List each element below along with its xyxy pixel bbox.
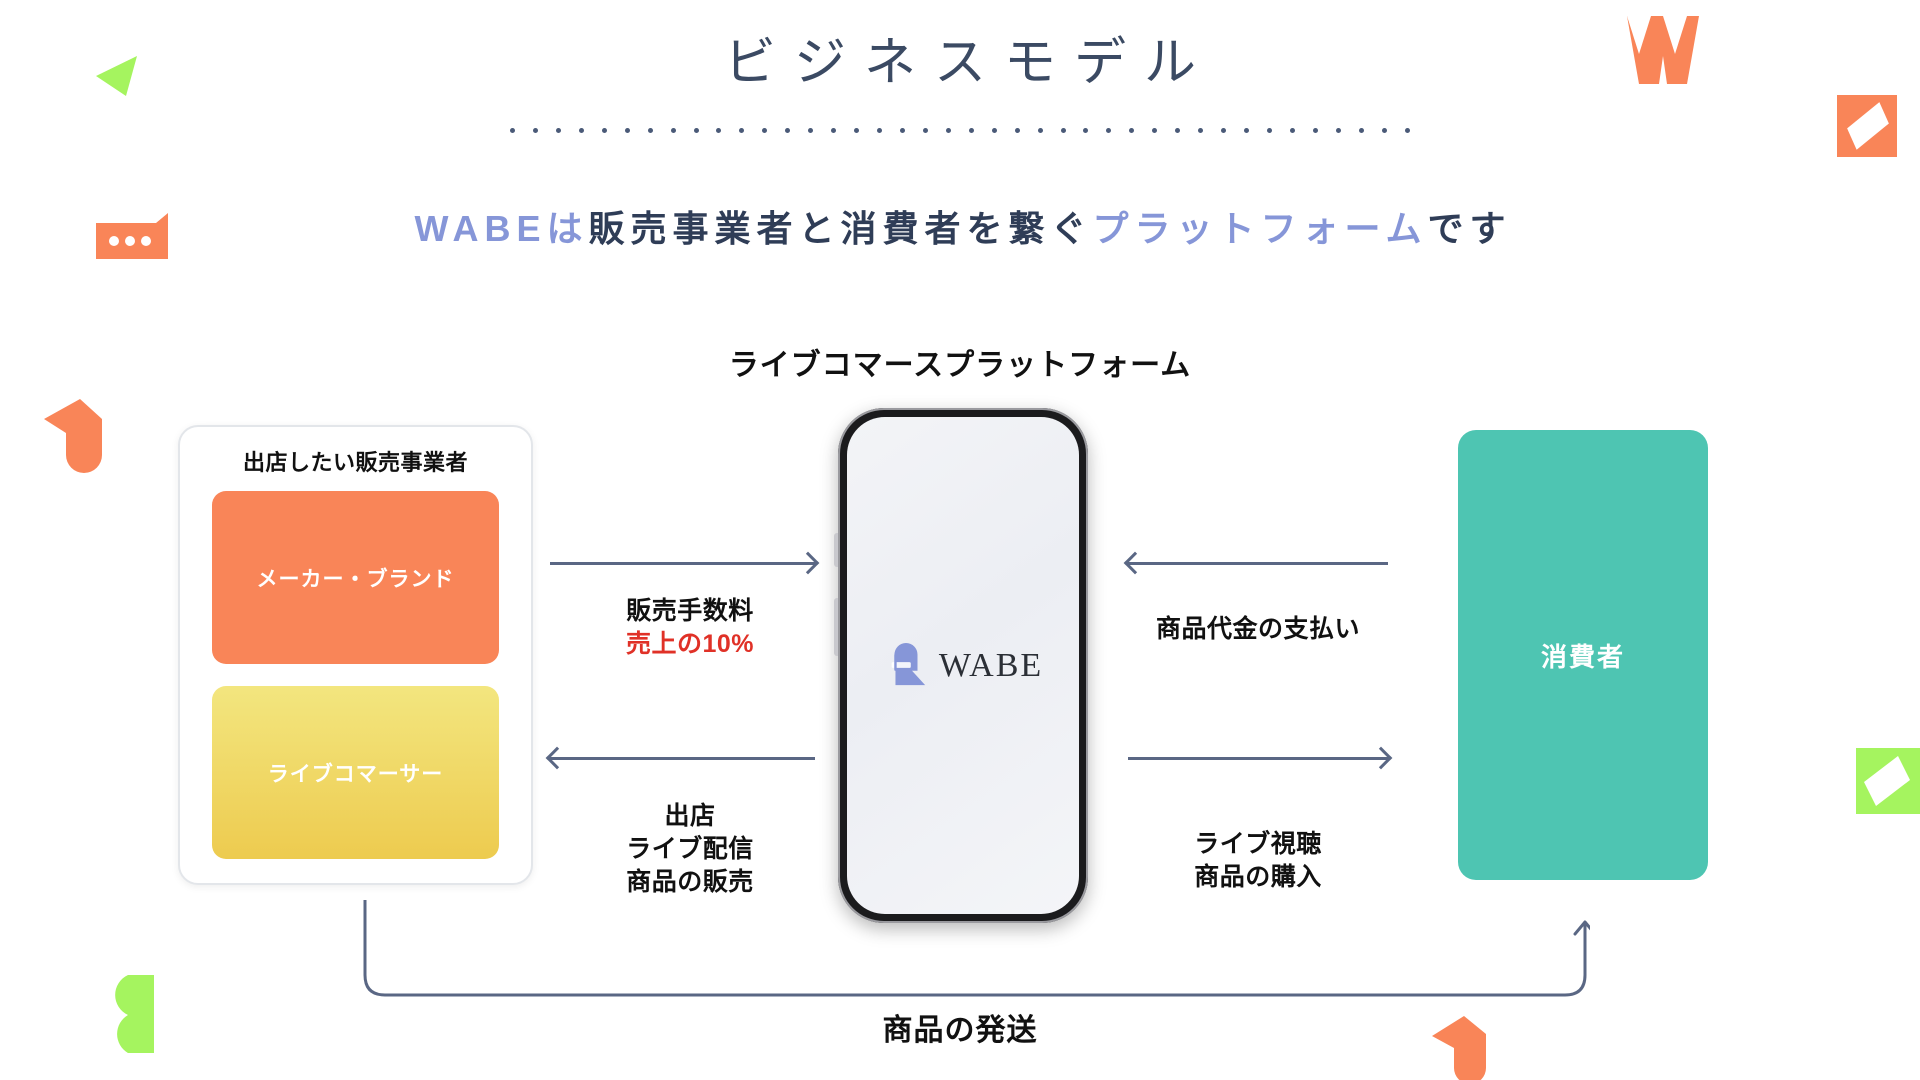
arrow-platform-to-consumer [1128,757,1388,760]
shopping-bag-icon [883,641,929,691]
dotted-divider [510,125,1410,135]
consumer-label: 消費者 [1541,637,1625,674]
chip-live-commercer[interactable]: ライブコマーサー [212,686,499,859]
label-sales-commission-line2: 売上の10% [540,628,840,661]
label-seller-activities-line2: ライブ配信 [540,833,840,866]
arrow-shipping-path [360,900,1590,1010]
label-seller-activities: 出店 ライブ配信 商品の販売 [540,800,840,899]
wabe-wordmark: WABE [939,647,1043,685]
label-consumer-activities-line1: ライブ視聴 [1108,828,1408,861]
label-sales-commission: 販売手数料 売上の10% [540,595,840,661]
label-seller-activities-line3: 商品の販売 [540,866,840,899]
phone-mockup: WABE [838,408,1088,923]
label-product-payment: 商品代金の支払い [1108,613,1408,646]
arrow-head-left-icon [1124,552,1147,575]
page-subtitle: WABEは販売事業者と消費者を繋ぐプラットフォームです [0,200,1920,252]
chip-maker-brand-label: メーカー・ブランド [257,563,455,593]
subtitle-highlight: プラットフォーム [1093,208,1428,249]
arrow-line [1128,562,1388,565]
label-seller-activities-line1: 出店 [540,800,840,833]
orange-pin-decor [38,393,110,483]
consumer-block: 消費者 [1458,430,1708,880]
arrow-head-left-icon [546,747,569,770]
label-shipping: 商品の発送 [0,1005,1920,1049]
arrow-line [550,757,815,760]
arrow-line [1128,757,1388,760]
label-sales-commission-line1: 販売手数料 [540,595,840,628]
slide-canvas: ビジネスモデル WABEは販売事業者と消費者を繋ぐプラットフォームです ライブコ… [0,0,1920,1080]
platform-caption: ライブコマースプラットフォーム [0,340,1920,384]
phone-screen: WABE [847,417,1079,914]
arrow-platform-to-seller [550,757,815,760]
page-title: ビジネスモデル [0,20,1920,95]
seller-card-title: 出店したい販売事業者 [212,445,499,477]
subtitle-text-2: です [1427,208,1511,249]
subtitle-brand: WABEは [415,208,589,249]
arrow-line [550,562,815,565]
chip-live-commercer-label: ライブコマーサー [268,758,444,788]
arrow-seller-to-platform [550,562,815,565]
arrow-head-right-icon [797,552,820,575]
wabe-logo: WABE [883,641,1043,691]
seller-card: 出店したい販売事業者 メーカー・ブランド ライブコマーサー [178,425,533,885]
subtitle-text-1: 販売事業者と消費者を繋ぐ [589,208,1093,249]
arrow-head-right-icon [1370,747,1393,770]
chip-maker-brand[interactable]: メーカー・ブランド [212,491,499,664]
green-square-slash-decor [1856,748,1920,814]
label-product-payment-line1: 商品代金の支払い [1108,613,1408,646]
arrow-consumer-to-platform [1128,562,1388,565]
label-consumer-activities: ライブ視聴 商品の購入 [1108,828,1408,894]
label-consumer-activities-line2: 商品の購入 [1108,861,1408,894]
orange-square-slash-decor [1837,95,1897,157]
